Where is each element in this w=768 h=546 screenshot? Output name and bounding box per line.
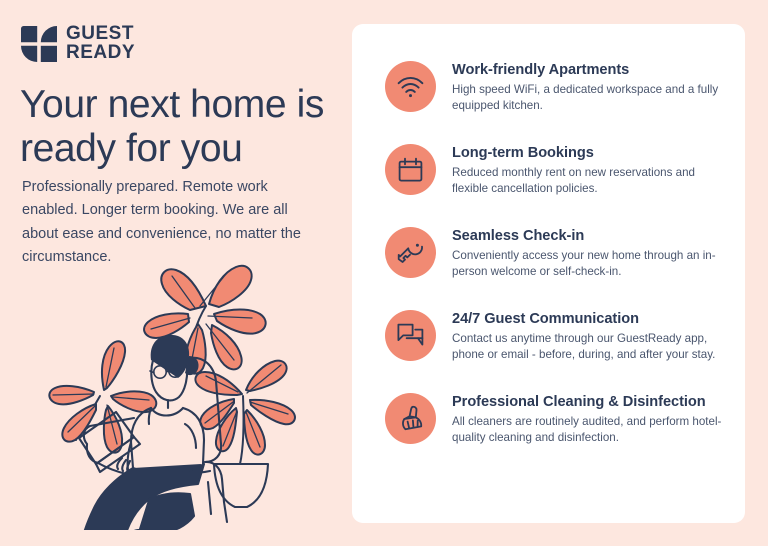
feature-text: Long-term Bookings Reduced monthly rent … [452,143,723,198]
brand-line-1: GUEST [66,25,135,44]
feature-description: High speed WiFi, a dedicated workspace a… [452,82,723,115]
feature-list: Work-friendly Apartments High speed WiFi… [352,24,745,447]
feature-title: Work-friendly Apartments [452,62,723,78]
feature-description: Reduced monthly rent on new reservations… [452,165,723,198]
brand-wordmark: GUEST READY [66,25,135,62]
feature-title: Long-term Bookings [452,145,723,161]
feature-item-guest-communication[interactable]: 24/7 Guest Communication Contact us anyt… [385,309,723,364]
broom-icon [385,393,436,444]
chat-bubbles-icon [385,310,436,361]
feature-description: All cleaners are routinely audited, and … [452,414,723,447]
plant-right-lower [195,361,295,464]
features-card: Work-friendly Apartments High speed WiFi… [352,24,745,523]
feature-text: Seamless Check-in Conveniently access yo… [452,226,723,281]
feature-description: Conveniently access your new home throug… [452,248,723,281]
calendar-icon [385,144,436,195]
feature-text: 24/7 Guest Communication Contact us anyt… [452,309,723,364]
page-title: Your next home is ready for you [20,83,350,170]
feature-description: Contact us anytime through our GuestRead… [452,331,723,364]
hero-left-column: GUEST READY Your next home is ready for … [0,0,352,546]
wifi-icon [385,61,436,112]
feature-item-seamless-check-in[interactable]: Seamless Check-in Conveniently access yo… [385,226,723,281]
brand-logo[interactable]: GUEST READY [21,25,135,62]
feature-text: Work-friendly Apartments High speed WiFi… [452,60,723,115]
guestready-quadrant-logo-icon [21,26,57,62]
woman-on-chair-with-laptop-and-plants-illustration [38,248,338,530]
feature-item-long-term-bookings[interactable]: Long-term Bookings Reduced monthly rent … [385,143,723,198]
feature-title: Seamless Check-in [452,228,723,244]
plant-left [49,341,156,452]
feature-title: Professional Cleaning & Disinfection [452,394,723,410]
feature-title: 24/7 Guest Communication [452,311,723,327]
feature-item-cleaning-disinfection[interactable]: Professional Cleaning & Disinfection All… [385,392,723,447]
feature-text: Professional Cleaning & Disinfection All… [452,392,723,447]
feature-item-work-friendly-apartments[interactable]: Work-friendly Apartments High speed WiFi… [385,60,723,115]
key-icon [385,227,436,278]
brand-line-2: READY [66,44,135,63]
